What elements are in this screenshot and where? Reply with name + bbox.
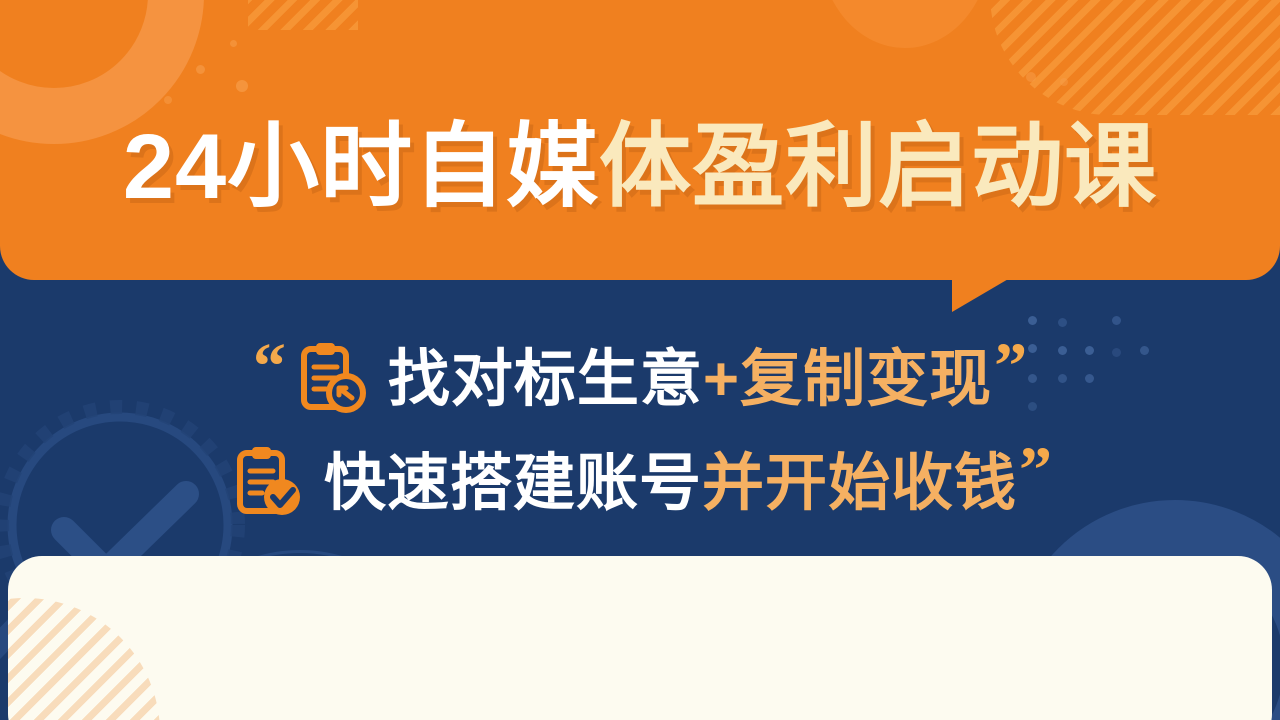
close-quote-mark: ” — [1019, 438, 1052, 504]
open-quote-mark: “ — [253, 334, 286, 400]
highlight-text-2: 快速搭建账号并开始收钱 — [324, 453, 1017, 515]
promo-poster: 24小时自媒体盈利启动课 “ 找对标生意+复制变现 ” — [0, 0, 1280, 720]
highlight-row-2: 快速搭建账号并开始收钱 ” — [0, 432, 1280, 536]
highlight-text-2-plain: 快速搭建账号 — [324, 449, 702, 518]
dot-decor — [236, 80, 248, 92]
bottom-content-card — [8, 556, 1272, 720]
stripes-decor-right — [990, 0, 1280, 115]
highlight-text-2-accent: 并开始收钱 — [702, 449, 1017, 518]
page-title: 24小时自媒体盈利启动课 — [0, 121, 1280, 213]
highlight-text-1-accent: +复制变现 — [703, 345, 992, 414]
highlight-list: “ 找对标生意+复制变现 ” — [0, 328, 1280, 536]
close-quote-mark: ” — [994, 334, 1027, 400]
orange-oval-decor — [820, 0, 990, 48]
clipboard-check-icon — [228, 445, 306, 523]
dot-decor — [196, 65, 205, 74]
title-segment-white: 24小时自媒 — [123, 116, 599, 218]
stripes-decor-left — [248, 0, 358, 30]
highlight-row-1: “ 找对标生意+复制变现 ” — [0, 328, 1280, 432]
dot-decor — [230, 40, 237, 47]
striped-circle-decor — [8, 598, 160, 720]
highlight-text-1: 找对标生意+复制变现 — [388, 349, 992, 411]
title-segment-cream: 体盈利启动课 — [599, 116, 1157, 218]
highlight-text-1-plain: 找对标生意 — [388, 345, 703, 414]
clipboard-search-icon — [292, 341, 370, 419]
dot-decor — [164, 96, 172, 104]
dot-decor — [1026, 72, 1036, 82]
speech-bubble-tail — [952, 278, 1010, 312]
dot-decor — [1060, 78, 1068, 86]
